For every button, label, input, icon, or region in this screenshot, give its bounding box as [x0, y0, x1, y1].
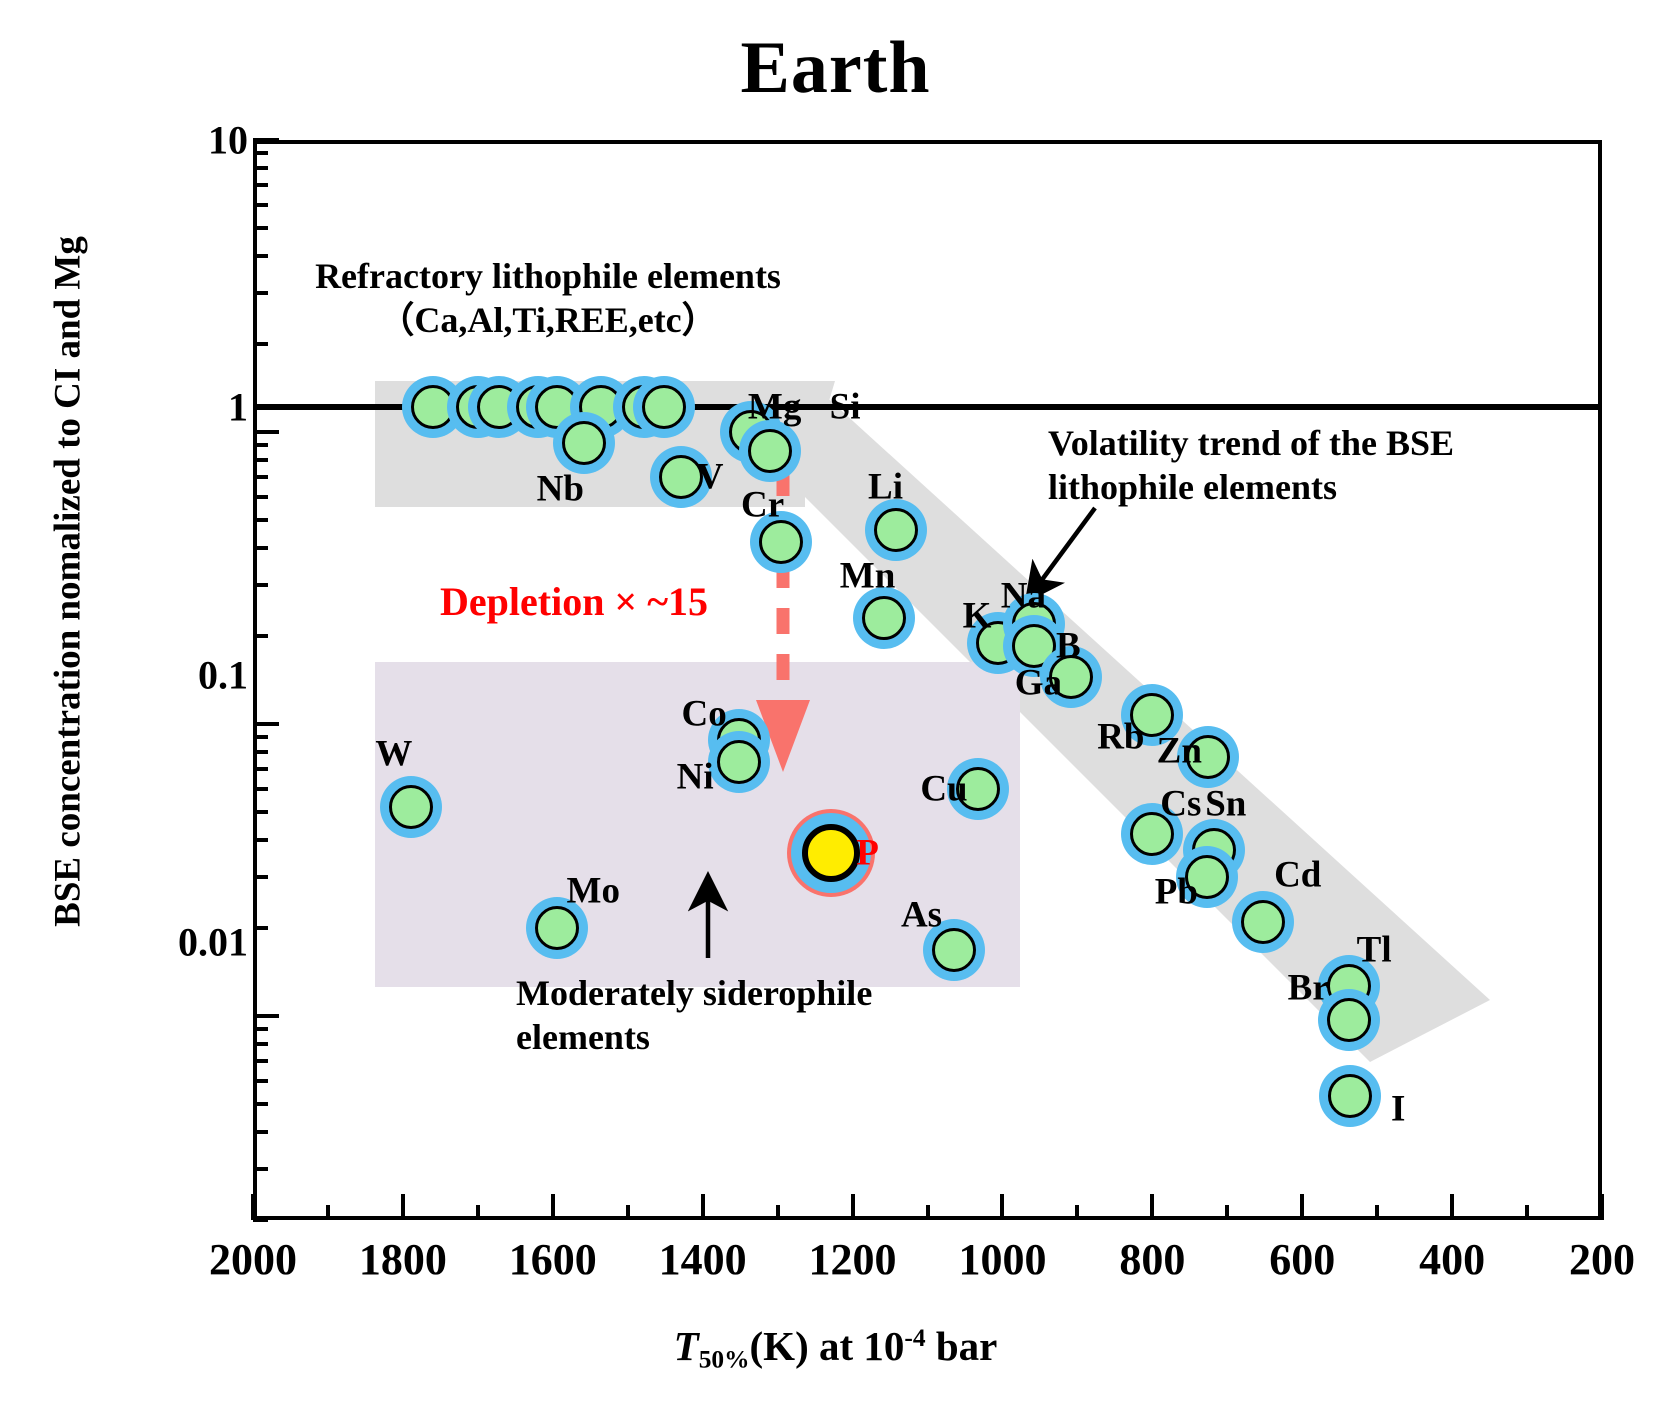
data-point-label-As: As [901, 893, 942, 936]
data-point-label-K: K [963, 594, 992, 637]
data-point-W [389, 785, 433, 829]
depletion-arrow [0, 0, 1671, 1415]
data-point-label-Cs: Cs [1160, 783, 1201, 826]
data-point-label-Cr: Cr [741, 484, 784, 527]
data-point-Nb [562, 421, 606, 465]
data-point-P [802, 824, 860, 882]
data-point-label-Br: Br [1288, 966, 1329, 1009]
data-point-Li [874, 508, 918, 552]
data-point-label-V: V [697, 456, 724, 499]
data-point-Si [748, 429, 792, 473]
data-point-label-Zn: Zn [1157, 729, 1202, 772]
data-point-label-Co: Co [682, 693, 727, 736]
data-point-label-Cd: Cd [1274, 853, 1321, 896]
data-point-I [1328, 1074, 1372, 1118]
data-point-label-P: P [856, 832, 879, 875]
data-point-label-Rb: Rb [1097, 716, 1144, 759]
chart-canvas: Earth 10 1 0.1 0.01 BSE concentration no… [0, 0, 1671, 1415]
data-point-label-Pb: Pb [1155, 871, 1198, 914]
data-point [477, 385, 521, 429]
data-point-label-Mg: Mg [748, 385, 801, 428]
data-point-label-Sn: Sn [1205, 783, 1246, 826]
data-point-Cd [1241, 900, 1285, 944]
data-point [642, 385, 686, 429]
data-point-Mo [535, 906, 579, 950]
data-point [411, 385, 455, 429]
data-point-Br [1327, 998, 1371, 1042]
data-point-label-Tl: Tl [1357, 929, 1392, 972]
data-point-label-Na: Na [1001, 574, 1046, 617]
data-point-label-Cu: Cu [920, 767, 967, 810]
data-point-label-Si: Si [830, 385, 861, 428]
data-point-label-Mn: Mn [840, 555, 896, 598]
data-point-label-Mo: Mo [567, 869, 620, 912]
data-point-label-Li: Li [868, 465, 903, 508]
data-point-label-Ga: Ga [1015, 662, 1062, 705]
data-point-Mn [862, 596, 906, 640]
data-point-label-Nb: Nb [537, 467, 584, 510]
data-point-Ni [717, 740, 761, 784]
data-point-label-I: I [1391, 1087, 1405, 1130]
data-point-label-W: W [375, 732, 412, 775]
data-point-label-Ni: Ni [677, 755, 714, 798]
